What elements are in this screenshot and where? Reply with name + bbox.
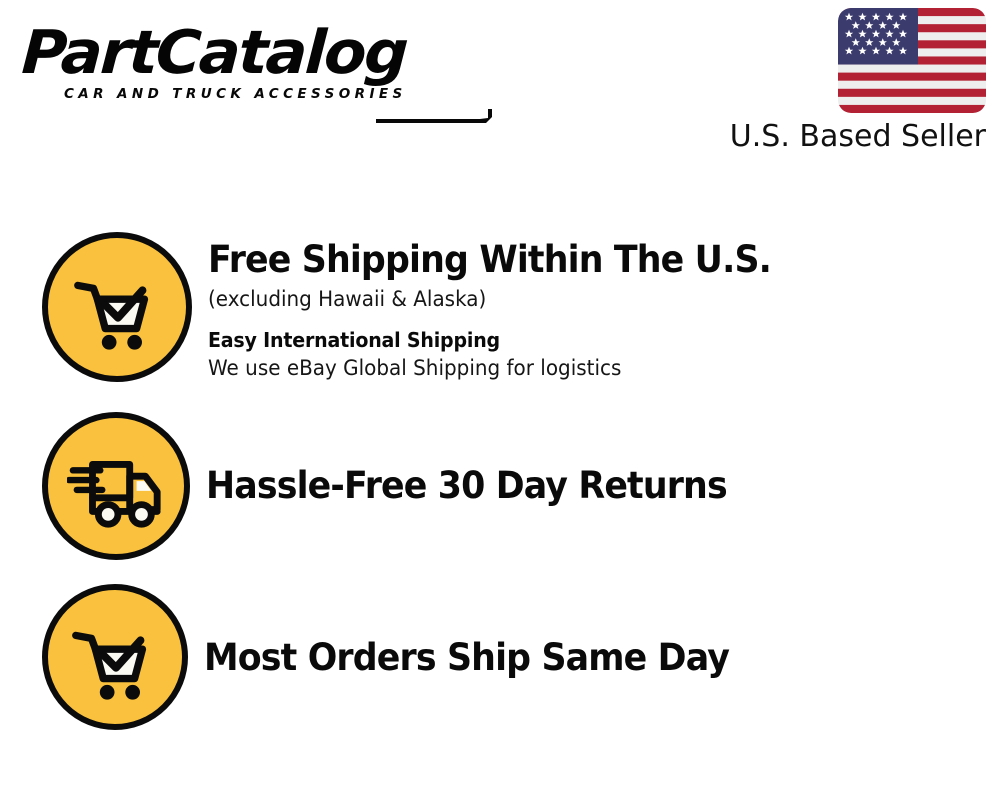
feature-text-block: Free Shipping Within The U.S. (excluding… — [208, 232, 1000, 382]
banner-header: PartCatalog CAR AND TRUCK ACCESSORIES — [0, 0, 1000, 170]
feature-row: Hassle-Free 30 Day Returns — [0, 412, 1000, 560]
seller-info-banner: PartCatalog CAR AND TRUCK ACCESSORIES — [0, 0, 1000, 800]
feature-title: Most Orders Ship Same Day — [204, 636, 952, 680]
logo-swoosh-icon — [374, 108, 492, 125]
us-based-seller-label: U.S. Based Seller — [716, 119, 986, 155]
shopping-cart-check-icon — [42, 232, 192, 382]
feature-row: Free Shipping Within The U.S. (excluding… — [0, 232, 1000, 382]
delivery-truck-icon — [42, 412, 190, 560]
feature-subtitle: (excluding Hawaii & Alaska) — [208, 285, 960, 313]
feature-title: Hassle-Free 30 Day Returns — [206, 464, 952, 508]
feature-title: Free Shipping Within The U.S. — [208, 238, 952, 282]
feature-text-block: Most Orders Ship Same Day — [204, 584, 1000, 680]
feature-secondary-title: Easy International Shipping — [208, 327, 960, 353]
logo-wordmark: PartCatalog — [20, 22, 507, 84]
shopping-cart-check-icon — [42, 584, 188, 730]
feature-text-block: Hassle-Free 30 Day Returns — [206, 412, 1000, 508]
feature-row: Most Orders Ship Same Day — [0, 584, 1000, 730]
feature-secondary-subtitle: We use eBay Global Shipping for logistic… — [208, 354, 960, 382]
us-based-seller-badge: U.S. Based Seller — [716, 8, 986, 155]
us-flag-icon — [838, 8, 986, 113]
brand-logo: PartCatalog CAR AND TRUCK ACCESSORIES — [22, 22, 492, 102]
logo-tagline: CAR AND TRUCK ACCESSORIES — [64, 86, 492, 102]
